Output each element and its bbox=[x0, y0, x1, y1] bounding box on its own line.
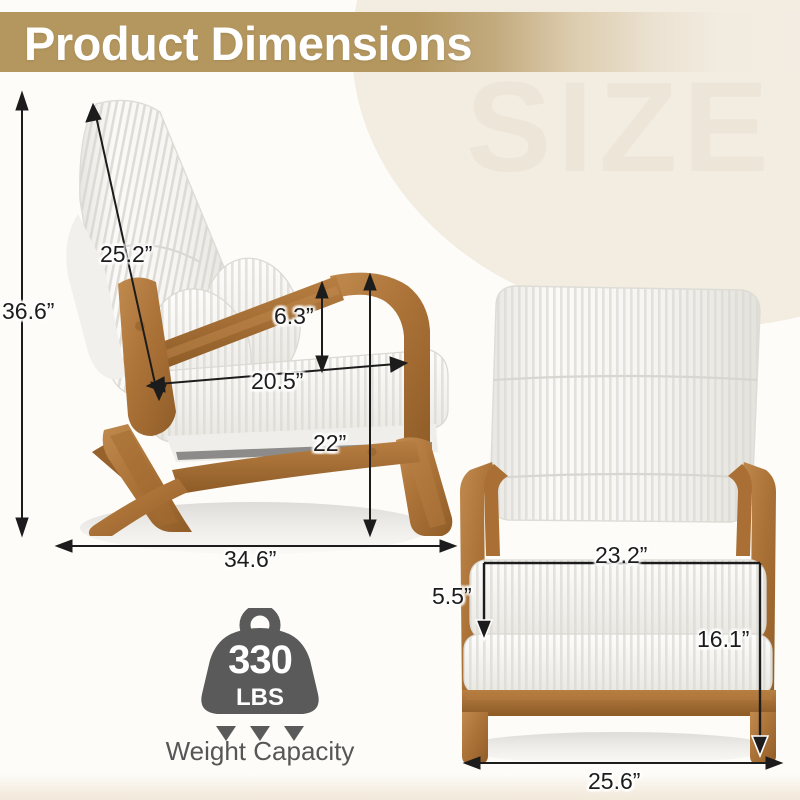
weight-icon-wrap: 330 LBS bbox=[140, 608, 380, 724]
weight-number: 330 bbox=[140, 640, 380, 680]
label-overall-depth: 34.6” bbox=[224, 548, 276, 571]
down-arrow-icon bbox=[284, 726, 304, 741]
down-arrow-icon bbox=[216, 726, 236, 741]
label-cushion-thickness: 5.5” bbox=[432, 585, 472, 608]
label-armrest-clearance: 6.3” bbox=[274, 305, 314, 328]
label-seat-width: 23.2” bbox=[595, 544, 647, 567]
label-overall-width: 25.6” bbox=[588, 770, 640, 793]
weight-capacity-block: 330 LBS Weight Capacity bbox=[140, 608, 380, 764]
chair-side-view bbox=[60, 80, 470, 554]
label-seat-height: 16.1” bbox=[697, 628, 749, 651]
chair-front-view bbox=[455, 280, 785, 764]
weight-arrows bbox=[140, 726, 380, 744]
product-dimensions-infographic: SIZE Product Dimensions bbox=[0, 0, 800, 800]
weight-unit: LBS bbox=[140, 686, 380, 710]
label-backrest-height: 25.2” bbox=[100, 243, 152, 266]
label-overall-height: 36.6” bbox=[2, 300, 54, 323]
dim-armrest-clearance bbox=[316, 282, 328, 372]
chair-illustrations bbox=[0, 0, 800, 800]
label-seat-depth: 20.5” bbox=[251, 370, 303, 393]
down-arrow-icon bbox=[250, 726, 270, 741]
label-armrest-height: 22” bbox=[313, 432, 346, 455]
